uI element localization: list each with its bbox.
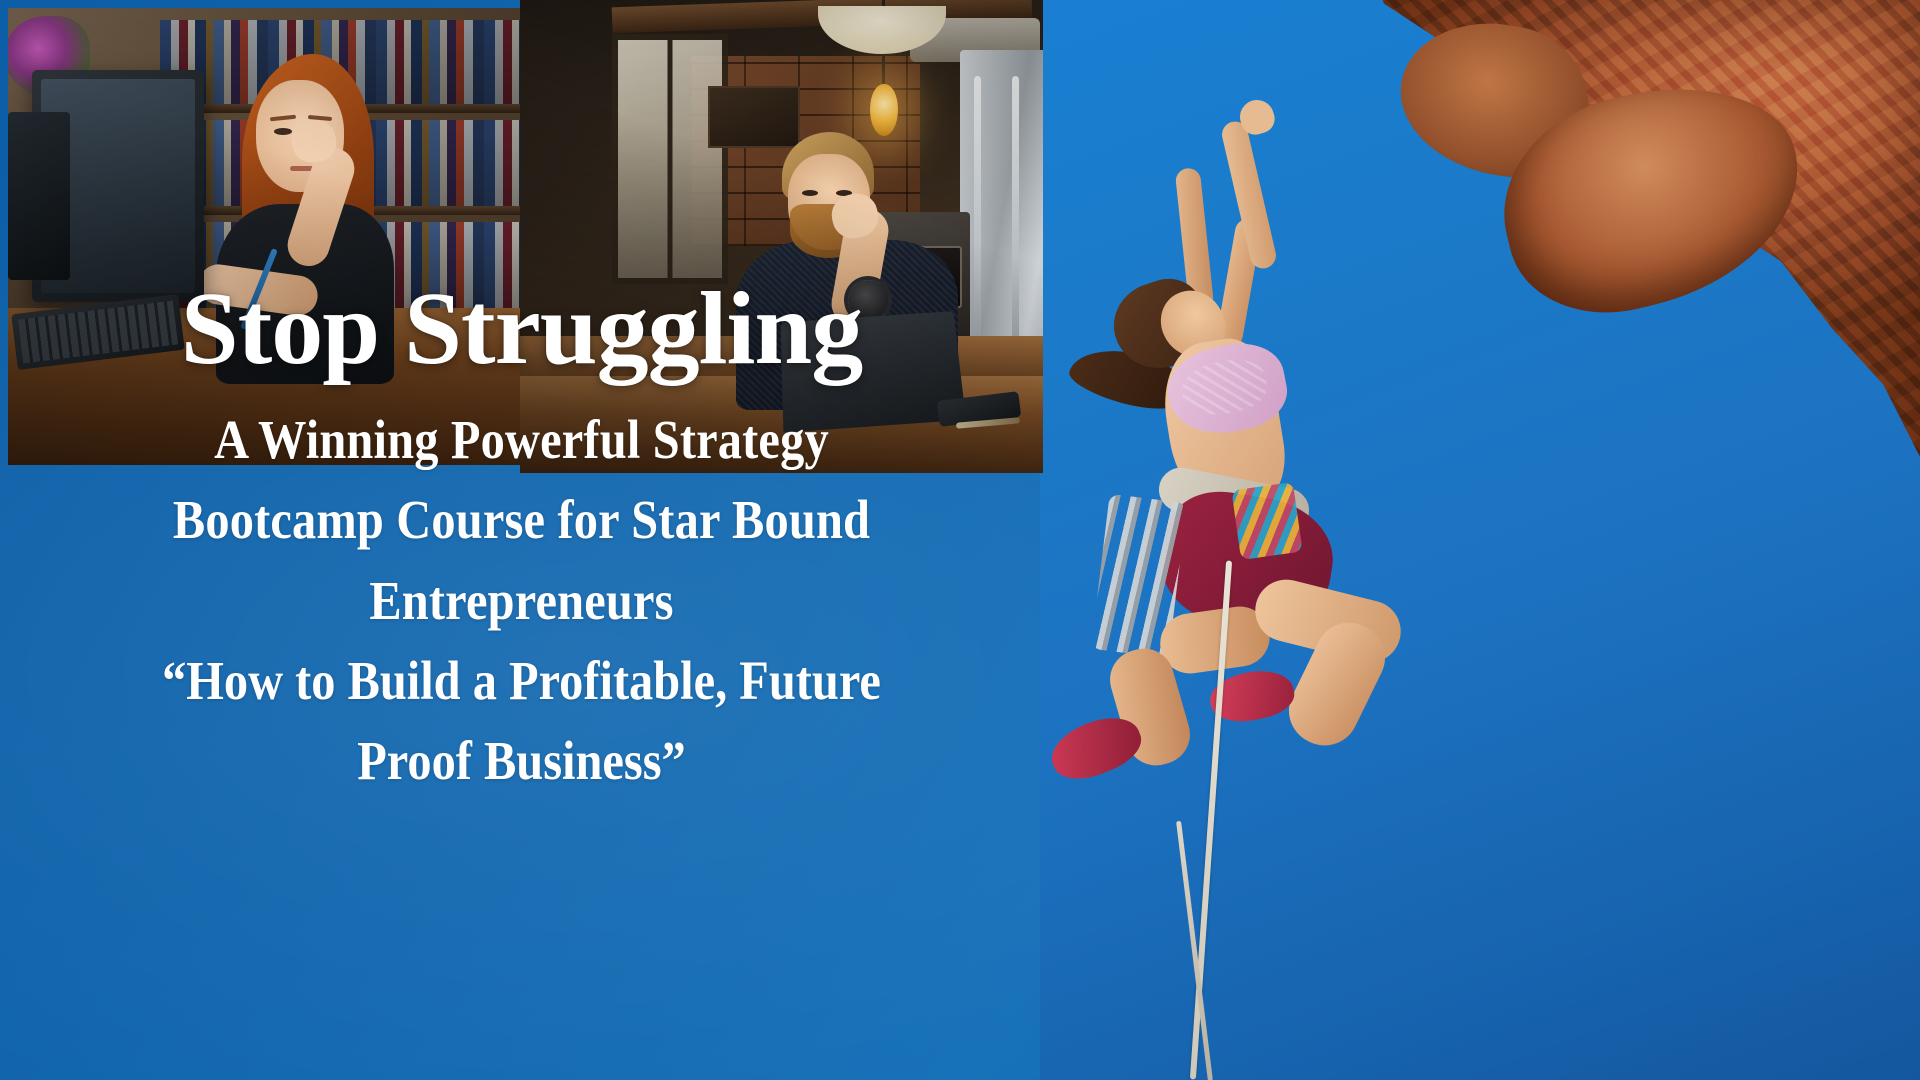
- rock-climber-photo: [1040, 0, 1920, 1080]
- climber-left-arm: [1219, 119, 1278, 271]
- photo-vignette-left: [8, 8, 520, 465]
- quickdraw-slings: [1231, 482, 1302, 560]
- subheadline-quote-line-2: Proof Business”: [63, 721, 981, 801]
- subheadline-quote-line-1: “How to Build a Profitable, Future: [63, 641, 981, 721]
- climber-figure: [1040, 0, 1920, 1080]
- page-title: Stop Struggling: [0, 277, 1043, 381]
- subheadline-line-2: Bootcamp Course for Star Bound: [63, 480, 981, 560]
- subheadline-line-1: A Winning Powerful Strategy: [63, 400, 981, 480]
- stressed-woman-photo: [8, 8, 520, 465]
- marketing-banner: Stop Struggling A Winning Powerful Strat…: [0, 0, 1920, 1080]
- subheadline-block: A Winning Powerful Strategy Bootcamp Cou…: [0, 400, 1043, 801]
- subheadline-line-3: Entrepreneurs: [63, 561, 981, 641]
